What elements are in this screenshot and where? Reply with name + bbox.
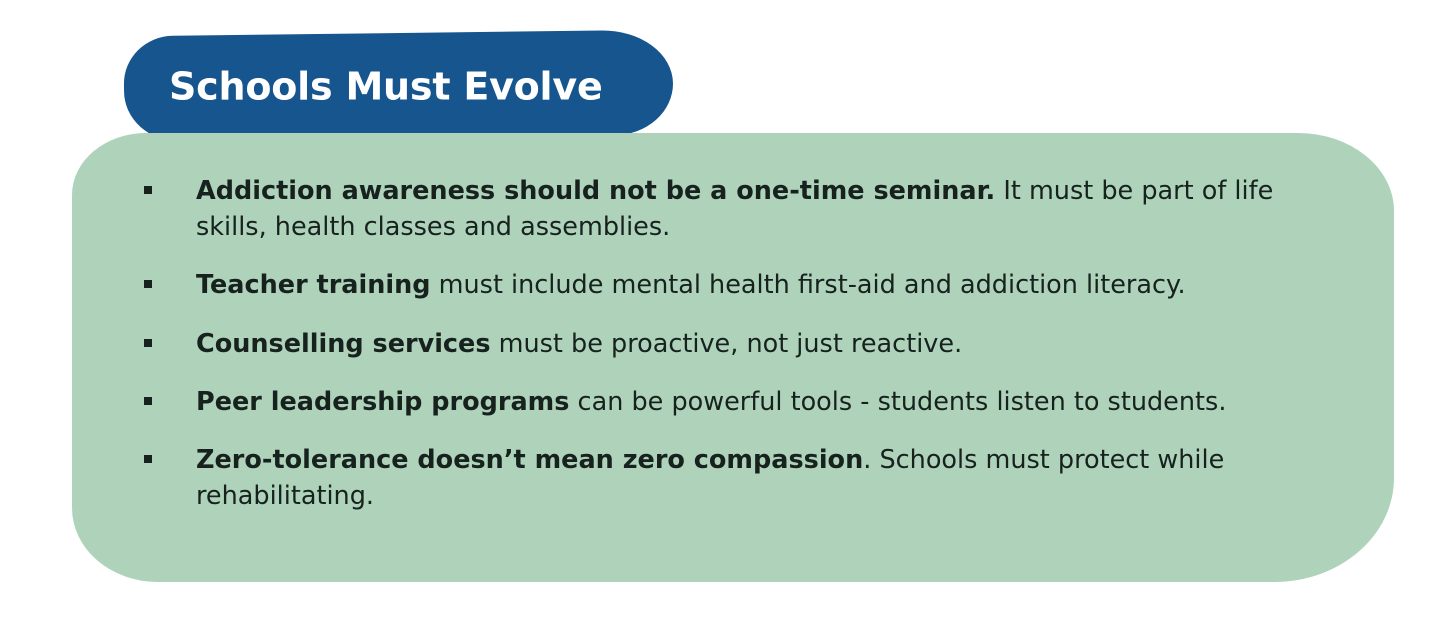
- list-item-rest: must be proactive, not just reactive.: [491, 329, 963, 359]
- content-panel: Addiction awareness should not be a one-…: [72, 133, 1394, 582]
- list-item: Addiction awareness should not be a one-…: [138, 173, 1298, 245]
- list-item: Teacher training must include mental hea…: [138, 267, 1298, 303]
- list-item-lead: Addiction awareness should not be a one-…: [196, 176, 995, 206]
- list-item-lead: Peer leadership programs: [196, 387, 569, 417]
- square-bullet-icon: [144, 280, 152, 288]
- slide: Schools Must Evolve Addiction awareness …: [0, 0, 1446, 640]
- square-bullet-icon: [144, 397, 152, 405]
- list-item-lead: Teacher training: [196, 270, 431, 300]
- page-title: Schools Must Evolve: [124, 64, 603, 108]
- list-item: Zero-tolerance doesn’t mean zero compass…: [138, 442, 1298, 514]
- list-item-rest: can be powerful tools - students listen …: [569, 387, 1226, 417]
- list-item: Counselling services must be proactive, …: [138, 326, 1298, 362]
- title-banner: Schools Must Evolve: [123, 30, 673, 142]
- square-bullet-icon: [144, 186, 152, 194]
- list-item-lead: Zero-tolerance doesn’t mean zero compass…: [196, 445, 863, 475]
- list-item-lead: Counselling services: [196, 329, 491, 359]
- list-item: Peer leadership programs can be powerful…: [138, 384, 1298, 420]
- bullet-list: Addiction awareness should not be a one-…: [72, 133, 1394, 582]
- square-bullet-icon: [144, 455, 152, 463]
- list-item-rest: must include mental health first-aid and…: [431, 270, 1186, 300]
- square-bullet-icon: [144, 339, 152, 347]
